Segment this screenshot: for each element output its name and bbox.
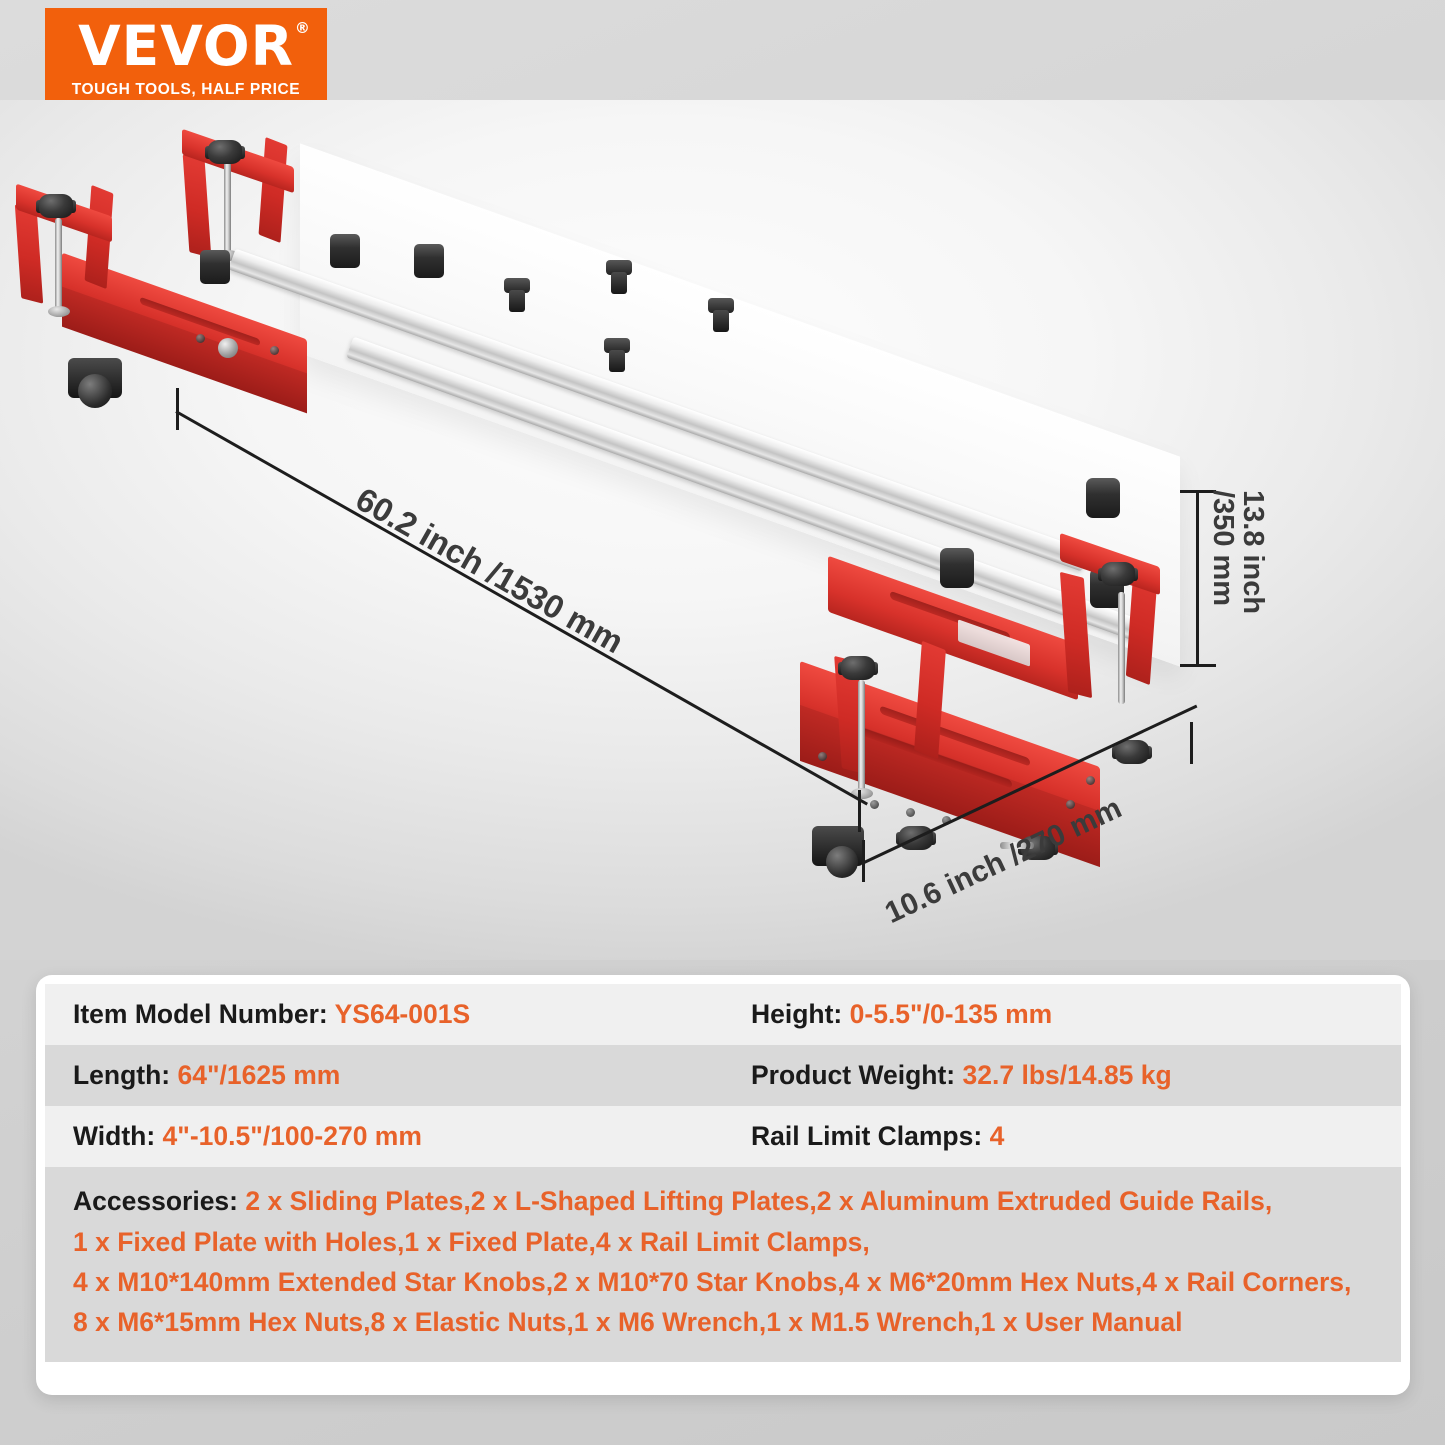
accessories-line-4: 8 x M6*15mm Hex Nuts,8 x Elastic Nuts,1 …	[73, 1302, 1375, 1342]
left-threaded-rod-1	[55, 218, 62, 310]
brand-tagline: TOUGH TOOLS, HALF PRICE	[72, 81, 301, 99]
rail-limit-clamp-2[interactable]	[606, 260, 632, 294]
rail-end-cap-back-left	[200, 250, 230, 284]
left-pivot-disc	[218, 338, 238, 358]
accessories-line-1: Accessories: 2 x Sliding Plates,2 x L-Sh…	[73, 1181, 1375, 1221]
left-rod-foot-1	[48, 306, 70, 317]
rail-end-cap-front-left	[414, 244, 444, 278]
left-star-knob-2[interactable]	[205, 140, 245, 166]
spec-value-length: 64"/1625 mm	[178, 1060, 341, 1090]
spec-cell-weight: Product Weight: 32.7 lbs/14.85 kg	[723, 1045, 1401, 1106]
rail-limit-clamp-4[interactable]	[708, 298, 734, 332]
left-caster-wheel	[78, 374, 112, 408]
spec-cell-length: Length: 64"/1625 mm	[45, 1045, 723, 1106]
depth-dim-tick-end	[1190, 722, 1193, 764]
spec-label-weight: Product Weight:	[751, 1060, 955, 1090]
accessories-value-1: 2 x Sliding Plates,2 x L-Shaped Lifting …	[245, 1186, 1272, 1216]
left-threaded-rod-2	[224, 162, 231, 254]
spec-label-length: Length:	[73, 1060, 170, 1090]
spec-cell-rail-clamps: Rail Limit Clamps: 4	[723, 1106, 1401, 1167]
accessories-line-3: 4 x M10*140mm Extended Star Knobs,2 x M1…	[73, 1262, 1375, 1302]
rail-end-cap-back-left-2	[330, 234, 360, 268]
right-threaded-rod-2	[1118, 592, 1125, 704]
brand-wordmark: VEVOR®	[78, 19, 294, 74]
spec-cell-model: Item Model Number: YS64-001S	[45, 984, 723, 1045]
right-threaded-rod-1	[858, 680, 865, 792]
spec-label-rail-clamps: Rail Limit Clamps:	[751, 1121, 982, 1151]
right-star-knob-1[interactable]	[838, 656, 878, 682]
spec-row: Width: 4"-10.5"/100-270 mm Rail Limit Cl…	[45, 1106, 1401, 1167]
length-dim-tick-start	[176, 388, 179, 430]
left-rear-post-b	[259, 137, 288, 243]
accessories-label: Accessories:	[73, 1186, 238, 1216]
length-dim-tick-end	[858, 790, 861, 832]
rail-limit-clamp-1[interactable]	[504, 278, 530, 312]
spec-value-model: YS64-001S	[335, 999, 471, 1029]
spec-value-weight: 32.7 lbs/14.85 kg	[963, 1060, 1172, 1090]
rail-limit-clamp-3[interactable]	[604, 338, 630, 372]
spec-cell-height: Height: 0-5.5"/0-135 mm	[723, 984, 1401, 1045]
spec-card: Item Model Number: YS64-001S Height: 0-5…	[36, 975, 1410, 1395]
accessories-line-2: 1 x Fixed Plate with Holes,1 x Fixed Pla…	[73, 1222, 1375, 1262]
product-photo: 60.2 inch /1530 mm 10.6 inch /270 mm 13.…	[0, 100, 1445, 960]
vevor-logo: VEVOR® TOUGH TOOLS, HALF PRICE	[45, 8, 327, 110]
left-star-knob-1[interactable]	[36, 194, 76, 220]
rail-end-cap-back-right	[940, 548, 974, 588]
spec-value-height: 0-5.5"/0-135 mm	[850, 999, 1053, 1029]
spec-cell-width: Width: 4"-10.5"/100-270 mm	[45, 1106, 723, 1167]
spec-row: Length: 64"/1625 mm Product Weight: 32.7…	[45, 1045, 1401, 1106]
left-rear-post-a	[183, 154, 212, 258]
height-dim-label-line2: /350 mm	[1208, 490, 1238, 614]
accessories-block: Accessories: 2 x Sliding Plates,2 x L-Sh…	[45, 1167, 1401, 1362]
spec-label-model: Item Model Number:	[73, 999, 328, 1029]
spec-table: Item Model Number: YS64-001S Height: 0-5…	[45, 984, 1401, 1362]
spec-value-width: 4"-10.5"/100-270 mm	[163, 1121, 422, 1151]
spec-label-width: Width:	[73, 1121, 155, 1151]
rail-end-cap-back-right-2	[1086, 478, 1120, 518]
right-caster-wheel	[826, 846, 858, 878]
registered-trademark-icon: ®	[295, 21, 311, 36]
product-spec-page: VEVOR® TOUGH TOOLS, HALF PRICE	[0, 0, 1445, 1445]
right-star-knob-2[interactable]	[1098, 562, 1138, 588]
height-dim-label-line1: 13.8 inch	[1238, 490, 1268, 614]
spec-label-height: Height:	[751, 999, 842, 1029]
height-dim-label: 13.8 inch /350 mm	[1208, 490, 1268, 614]
spec-value-rail-clamps: 4	[990, 1121, 1005, 1151]
height-dim-tick-bottom	[1180, 664, 1216, 667]
spec-row: Item Model Number: YS64-001S Height: 0-5…	[45, 984, 1401, 1045]
height-dim-line	[1196, 492, 1199, 667]
